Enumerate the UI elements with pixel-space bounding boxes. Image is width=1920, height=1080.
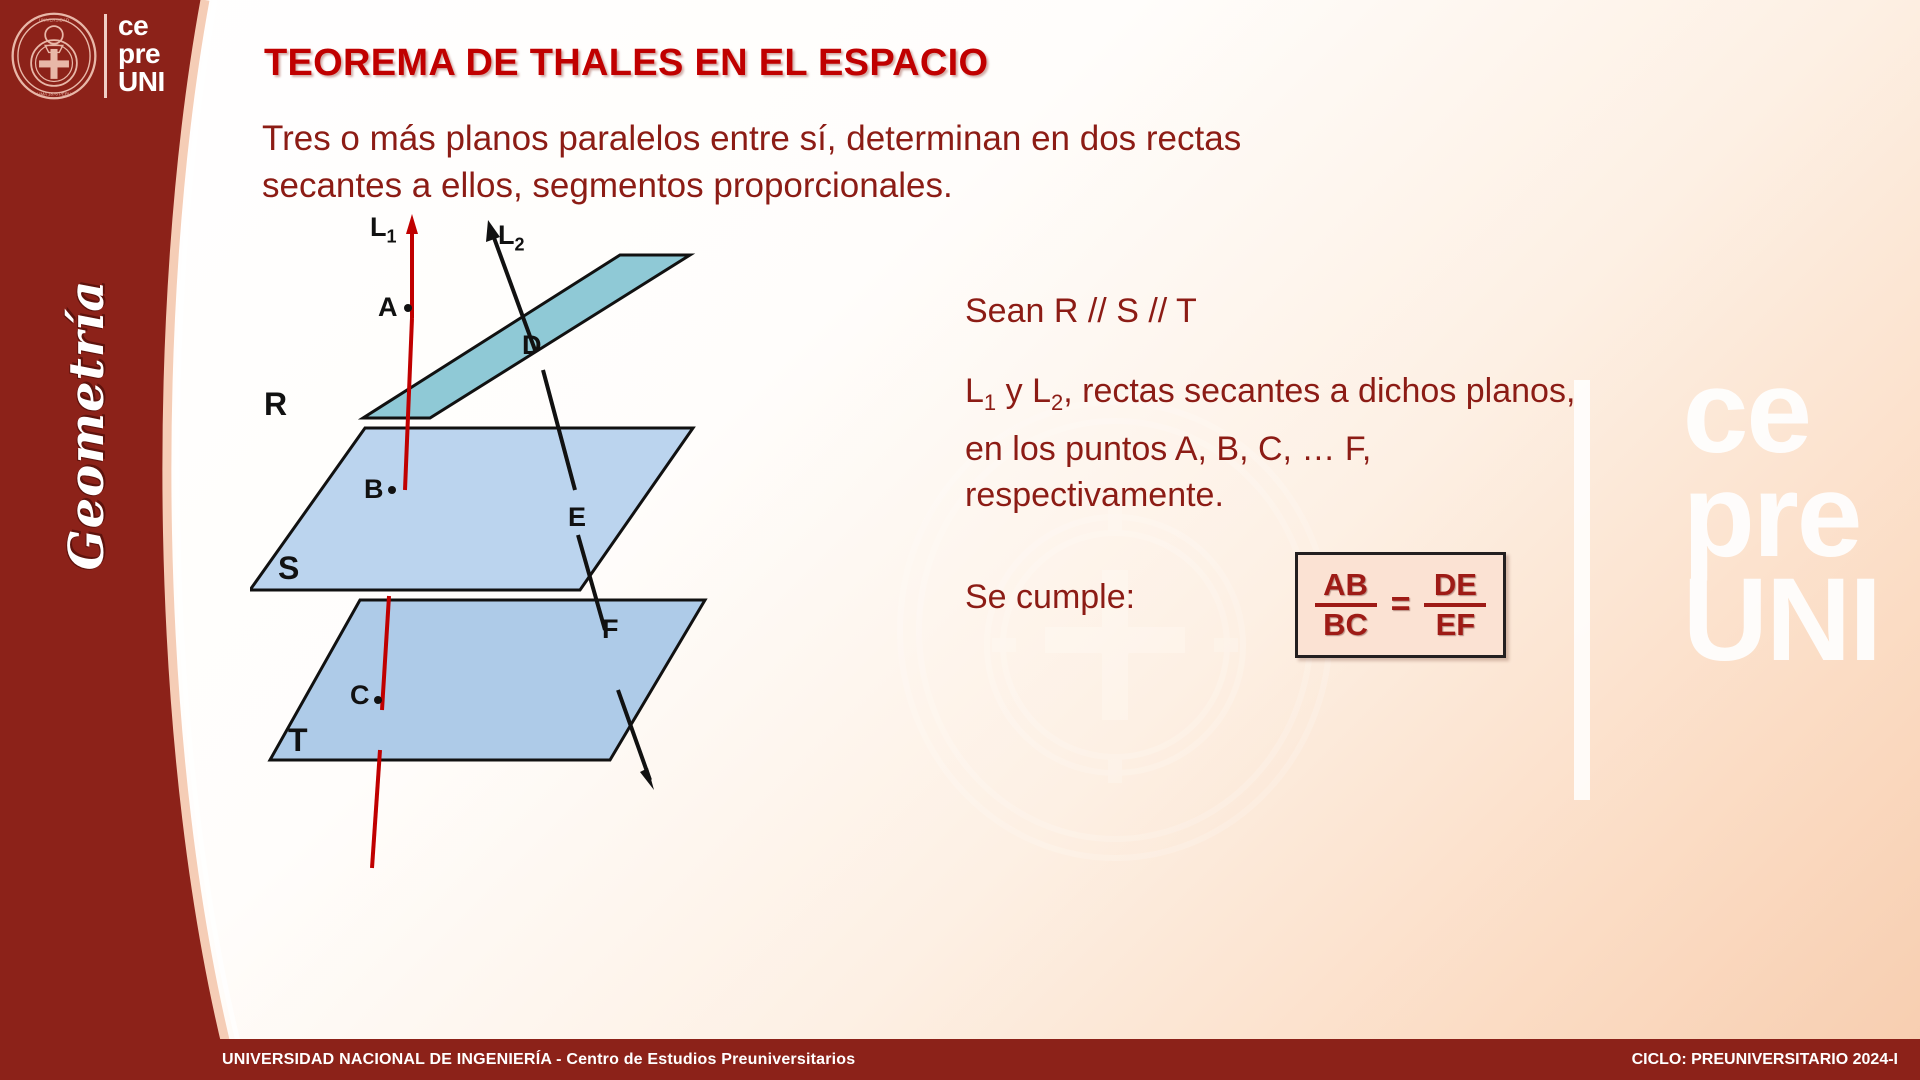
thales-space-diagram: L1 L2 A D B E F C R S T [250,190,870,870]
label-L1: L1 [370,212,397,247]
fraction-right-denominator: EF [1436,608,1476,642]
svg-text:LIMA 1876 PERU: LIMA 1876 PERU [37,92,71,97]
cepre-logo: UNIVERSIDAD LIMA 1876 PERU ce pre UNI [6,8,196,108]
line-puntos: en los puntos A, B, C, … F, [965,430,1371,468]
fraction-left: AB BC [1315,568,1377,642]
explanation-column: Sean R // S // T L1 y L2, rectas secante… [965,288,1885,672]
logo-divider [104,14,107,98]
rectas-L2-sub: 2 [1051,390,1063,415]
fraction-right-numerator: DE [1434,568,1477,602]
label-point-B: B [364,474,384,505]
diagram-svg [250,190,870,870]
footer-cycle-text: CICLO: PREUNIVERSITARIO 2024-I [1632,1051,1898,1069]
page-title: TEOREMA DE THALES EN EL ESPACIO [264,42,988,85]
label-point-A: A [378,292,398,323]
point-A-dot [404,304,412,312]
footer-bar: UNIVERSIDAD NACIONAL DE INGENIERÍA - Cen… [0,1042,1920,1080]
label-L2: L2 [498,220,525,255]
fraction-right: DE EF [1424,568,1486,642]
rectas-L1-base: L [965,372,984,410]
rectas-rest: , rectas secantes a dichos planos, [1063,372,1575,410]
footer-institution-text: UNIVERSIDAD NACIONAL DE INGENIERÍA - Cen… [222,1051,855,1069]
plane-S [250,428,693,590]
rectas-mid: y L [996,372,1051,410]
se-cumple-label: Se cumple: [965,578,1135,617]
proportion-formula-box: AB BC = DE EF [1295,552,1506,658]
se-cumple-row: Se cumple: AB BC = DE EF [965,552,1885,672]
line-sean-parallel: Sean R // S // T [965,288,1885,334]
point-C-dot [374,696,382,704]
fraction-left-denominator: BC [1323,608,1368,642]
label-point-D: D [522,330,542,361]
label-plane-S: S [278,550,299,587]
svg-text:UNIVERSIDAD: UNIVERSIDAD [39,18,69,23]
label-point-E: E [568,502,586,533]
intro-line-1: Tres o más planos paralelos entre sí, de… [262,115,1422,162]
slide-root: cepreUNI UNIVERSIDAD LIMA 1876 PERU [0,0,1920,1080]
subject-vertical-label: Geometría [59,265,129,585]
line-respectivamente: respectivamente. [965,476,1224,514]
logo-line-uni: UNI [118,68,165,96]
line-rectas-secantes: L1 y L2, rectas secantes a dichos planos… [965,368,1885,518]
fraction-left-numerator: AB [1323,568,1368,602]
label-plane-T: T [288,722,308,759]
label-point-F: F [602,614,619,645]
rectas-L1-sub: 1 [984,390,996,415]
label-plane-R: R [264,386,287,423]
logo-wordmark: ce pre UNI [118,12,165,96]
equals-sign: = [1391,585,1411,624]
logo-line-ce: ce [118,12,165,40]
point-B-dot [388,486,396,494]
logo-line-pre: pre [118,40,165,68]
uni-seal-icon: UNIVERSIDAD LIMA 1876 PERU [10,12,98,100]
plane-T [270,600,705,760]
label-point-C: C [350,680,370,711]
